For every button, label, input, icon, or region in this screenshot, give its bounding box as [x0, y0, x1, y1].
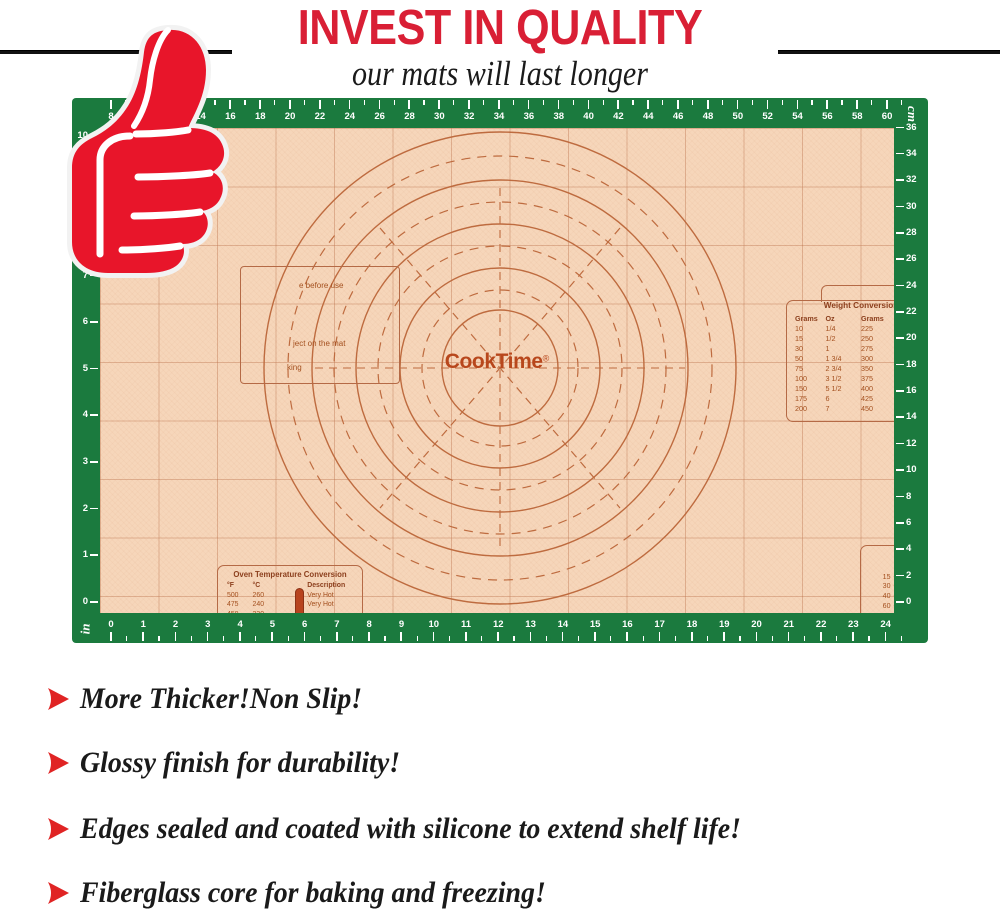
ruler-minor-tick — [449, 636, 450, 641]
panel-tab-notch — [821, 285, 894, 302]
ruler-tick — [896, 153, 904, 155]
ruler-label: 54 — [790, 111, 806, 122]
ruler-minor-tick — [675, 636, 676, 641]
ruler-tick — [647, 100, 649, 109]
ruler-label: 5 — [83, 363, 88, 374]
table-cell: 1/2 — [825, 333, 861, 343]
ruler-minor-tick — [320, 636, 321, 641]
ruler-tick — [617, 100, 619, 109]
feature-bullet: Fiberglass core for baking and freezing! — [36, 862, 581, 924]
ruler-tick — [90, 461, 98, 463]
ruler-minor-tick — [394, 100, 395, 105]
ruler-minor-tick — [782, 100, 783, 105]
table-row: 75Gram=2/3 cup — [861, 612, 894, 613]
ruler-minor-tick — [901, 100, 902, 105]
ruler-label: 0 — [906, 596, 911, 607]
ruler-tick — [659, 632, 661, 641]
ruler-tick — [408, 100, 410, 109]
ruler-tick — [588, 100, 590, 109]
ruler-tick — [896, 311, 904, 313]
ruler-label: 19 — [716, 619, 732, 630]
table-row: 1505 1/240014 — [787, 384, 894, 394]
table-cell: 5 1/2 — [825, 384, 861, 394]
ruler-label: 2 — [168, 619, 184, 630]
ruler-label: 4 — [906, 543, 911, 554]
table-cell: 260 — [253, 591, 285, 601]
ruler-tick — [896, 496, 904, 498]
ruler-label: 1 — [83, 549, 88, 560]
table-cell: 200 — [787, 404, 825, 414]
thumbs-up-icon — [60, 18, 242, 286]
table-cell: 75 — [861, 612, 894, 613]
ruler-minor-tick — [288, 636, 289, 641]
ruler-label: 50 — [730, 111, 746, 122]
ruler-label: 9 — [393, 619, 409, 630]
table-cell: 300 — [861, 353, 894, 363]
ruler-minor-tick — [739, 636, 740, 641]
ruler-tick — [90, 601, 98, 603]
arrow-bullet-icon — [36, 748, 80, 778]
table-cell: 15 — [861, 573, 894, 583]
cups-conversion-table: 15Gram=1/8 cup30Gram=1/4 cup40Gram=1/3 c… — [861, 573, 894, 614]
table-cell: 230 — [253, 610, 285, 613]
ruler-label: 11 — [458, 619, 474, 630]
ruler-label: 34 — [906, 148, 917, 159]
ruler-tick — [207, 632, 209, 641]
table-header-row: GramsOzGramsOz — [787, 313, 894, 323]
ruler-tick — [677, 100, 679, 109]
ruler-label: 6 — [83, 316, 88, 327]
cups-us-body: Flour and Icing Sugar15Gram=1/8 cup30Gra… — [861, 563, 894, 614]
column-header: Oz — [825, 313, 861, 323]
ruler-minor-tick — [334, 100, 335, 105]
ruler-label: 30 — [431, 111, 447, 122]
ruler-label: 8 — [906, 491, 911, 502]
table-cell: 50 — [787, 353, 825, 363]
ruler-tick — [110, 632, 112, 641]
ruler-minor-tick — [841, 100, 842, 105]
table-cell: 3 1/2 — [825, 374, 861, 384]
ruler-label: 28 — [906, 227, 917, 238]
ruler-label: 5 — [264, 619, 280, 630]
ruler-tick — [497, 632, 499, 641]
ruler-tick — [433, 632, 435, 641]
ruler-label: 24 — [342, 111, 358, 122]
table-cell: 15 — [787, 333, 825, 343]
ruler-label: 36 — [521, 111, 537, 122]
ruler-label: 3 — [200, 619, 216, 630]
ruler-tick — [558, 100, 560, 109]
table-header-row: °F°CDescription — [218, 581, 362, 591]
ruler-label: 18 — [684, 619, 700, 630]
ruler-label: 18 — [906, 359, 917, 370]
ruler-tick — [626, 632, 628, 641]
ruler-tick — [498, 100, 500, 109]
table-row: 501 3/430010 1/2 — [787, 353, 894, 363]
ruler-label: 48 — [700, 111, 716, 122]
ruler-tick — [788, 632, 790, 641]
feature-bullet: Edges sealed and coated with silicone to… — [36, 798, 791, 860]
ruler-tick — [797, 100, 799, 109]
table-row: 752 3/435012 — [787, 363, 894, 373]
ruler-label: 12 — [906, 438, 917, 449]
thermometer-icon — [292, 588, 307, 613]
ruler-tick — [896, 469, 904, 471]
ruler-minor-tick — [546, 636, 547, 641]
ruler-minor-tick — [453, 100, 454, 105]
ruler-minor-tick — [483, 100, 484, 105]
ruler-right-cm: 024681012141618202224262830323436 — [894, 128, 928, 613]
ruler-tick — [723, 632, 725, 641]
ruler-tick — [826, 100, 828, 109]
ruler-minor-tick — [364, 100, 365, 105]
ruler-label: 24 — [906, 280, 917, 291]
ruler-tick — [304, 632, 306, 641]
ruler-minor-tick — [352, 636, 353, 641]
ruler-tick — [737, 100, 739, 109]
ruler-minor-tick — [244, 100, 245, 105]
arrow-bullet-icon — [36, 684, 80, 714]
ruler-label: 28 — [401, 111, 417, 122]
ruler-minor-tick — [707, 636, 708, 641]
table-cell: 7 — [825, 404, 861, 414]
ruler-minor-tick — [158, 636, 159, 641]
ruler-tick — [896, 179, 904, 181]
table-row: 101/42258 — [787, 323, 894, 333]
instructions-panel: e before use ject on the mat king — [240, 266, 400, 384]
ruler-label: 20 — [282, 111, 298, 122]
ruler-label: 4 — [83, 409, 88, 420]
table-cell: 450 — [218, 610, 253, 613]
ruler-tick — [896, 575, 904, 577]
cups-section-subtitle: Flour and Icing Sugar — [861, 563, 894, 572]
ruler-label: 34 — [491, 111, 507, 122]
ruler-label: 2 — [906, 570, 911, 581]
ruler-tick — [349, 100, 351, 109]
ruler-minor-tick — [804, 636, 805, 641]
ruler-tick — [90, 414, 98, 416]
ruler-minor-tick — [384, 636, 385, 641]
ruler-tick — [142, 632, 144, 641]
table-cell: 275 — [861, 343, 894, 353]
table-cell: 350 — [861, 363, 894, 373]
arrow-bullet-icon — [36, 878, 80, 908]
ruler-minor-tick — [573, 100, 574, 105]
table-cell: 450 — [861, 404, 894, 414]
ruler-label: 10 — [426, 619, 442, 630]
feature-bullet-list: More Thicker!Non Slip!Glossy finish for … — [36, 660, 1000, 924]
ruler-label: 1 — [135, 619, 151, 630]
table-cell: 100 — [787, 374, 825, 384]
ruler-tick — [896, 364, 904, 366]
ruler-tick — [400, 632, 402, 641]
ruler-minor-tick — [632, 100, 633, 105]
ruler-tick — [465, 632, 467, 641]
cups-us-title: CUPS(US) — [861, 546, 894, 560]
ruler-minor-tick — [578, 636, 579, 641]
unit-label-bottom-in: in — [77, 624, 93, 635]
ruler-tick — [896, 416, 904, 418]
table-cell: 240 — [253, 600, 285, 610]
table-cell: 60 — [861, 602, 894, 612]
table-cell: Very Hot — [307, 600, 362, 610]
ruler-minor-tick — [662, 100, 663, 105]
ruler-label: 42 — [610, 111, 626, 122]
feature-bullet-text: More Thicker!Non Slip! — [80, 682, 362, 716]
ruler-label: 30 — [906, 201, 917, 212]
ruler-tick — [886, 100, 888, 109]
ruler-minor-tick — [223, 636, 224, 641]
ruler-tick — [90, 554, 98, 556]
weight-conversion-table: GramsOzGramsOz101/42258151/225093012759 … — [787, 313, 894, 414]
ruler-minor-tick — [752, 100, 753, 105]
table-row: 500260Very Hot — [218, 591, 362, 601]
ruler-tick — [856, 100, 858, 109]
ruler-minor-tick — [255, 636, 256, 641]
ruler-tick — [530, 632, 532, 641]
ruler-minor-tick — [692, 100, 693, 105]
ruler-tick — [271, 632, 273, 641]
ruler-minor-tick — [811, 100, 812, 105]
table-cell: 6 — [825, 394, 861, 404]
table-row: 30Gram=1/4 cup — [861, 582, 894, 592]
ruler-label: 52 — [760, 111, 776, 122]
ruler-tick — [896, 390, 904, 392]
ruler-minor-tick — [513, 636, 514, 641]
ruler-label: 20 — [749, 619, 765, 630]
ruler-tick — [885, 632, 887, 641]
ruler-label: 60 — [879, 111, 895, 122]
ruler-minor-tick — [603, 100, 604, 105]
ruler-tick — [896, 232, 904, 234]
ruler-label: 16 — [906, 385, 917, 396]
table-cell: 150 — [787, 384, 825, 394]
ruler-tick — [896, 443, 904, 445]
feature-bullet-text: Fiberglass core for baking and freezing! — [80, 876, 546, 910]
table-row: 15Gram=1/8 cup — [861, 573, 894, 583]
ruler-label: 0 — [83, 596, 88, 607]
ruler-minor-tick — [274, 100, 275, 105]
ruler-tick — [896, 548, 904, 550]
table-row: 20074501lb — [787, 404, 894, 414]
ruler-label: 6 — [297, 619, 313, 630]
oven-temperature-panel: Oven Temperature Conversion °F°CDescript… — [217, 565, 363, 613]
ruler-tick — [896, 522, 904, 524]
table-row: 450230— — [218, 610, 362, 613]
ruler-tick — [438, 100, 440, 109]
ruler-label: 18 — [252, 111, 268, 122]
arrow-bullet-icon — [36, 814, 80, 844]
table-cell: Very Hot — [307, 591, 362, 601]
ruler-minor-tick — [901, 636, 902, 641]
feature-bullet: More Thicker!Non Slip! — [36, 668, 383, 730]
ruler-label: 40 — [581, 111, 597, 122]
ruler-label: 32 — [906, 174, 917, 185]
weight-conversion-title: Weight Conversion — [787, 301, 894, 310]
brand-registered-mark: ® — [543, 354, 550, 364]
ruler-label: 38 — [551, 111, 567, 122]
table-cell: 375 — [861, 374, 894, 384]
ruler-label: 16 — [619, 619, 635, 630]
ruler-label: 14 — [906, 411, 917, 422]
ruler-label: 12 — [490, 619, 506, 630]
table-cell: 30 — [787, 343, 825, 353]
table-cell: 175 — [787, 394, 825, 404]
table-cell: 225 — [861, 323, 894, 333]
ruler-minor-tick — [868, 636, 869, 641]
column-header: °F — [218, 581, 253, 591]
ruler-tick — [175, 632, 177, 641]
brand-logo: CookTime® — [100, 350, 894, 374]
ruler-minor-tick — [191, 636, 192, 641]
ruler-tick — [820, 632, 822, 641]
ruler-bottom-inch: 0123456789101112131415161718192021222324 — [100, 613, 894, 643]
ruler-tick — [90, 508, 98, 510]
ruler-minor-tick — [871, 100, 872, 105]
ruler-tick — [468, 100, 470, 109]
ruler-tick — [707, 100, 709, 109]
ruler-label: 13 — [523, 619, 539, 630]
ruler-label: 20 — [906, 332, 917, 343]
ruler-label: 6 — [906, 517, 911, 528]
ruler-tick — [896, 127, 904, 129]
table-cell: 475 — [218, 600, 253, 610]
ruler-label: 15 — [587, 619, 603, 630]
ruler-minor-tick — [304, 100, 305, 105]
ruler-tick — [896, 258, 904, 260]
table-row: 40Gram=1/3 cup — [861, 592, 894, 602]
ruler-label: 3 — [83, 456, 88, 467]
ruler-minor-tick — [643, 636, 644, 641]
ruler-tick — [756, 632, 758, 641]
oven-temperature-table: °F°CDescription500260Very Hot475240Very … — [218, 581, 362, 613]
ruler-label: 21 — [781, 619, 797, 630]
ruler-label: 32 — [461, 111, 477, 122]
thermometer-stem — [295, 588, 304, 613]
ruler-minor-tick — [423, 100, 424, 105]
table-row: 151/22509 — [787, 333, 894, 343]
ruler-label: 58 — [849, 111, 865, 122]
table-row: 60Gram=1/2 cup — [861, 602, 894, 612]
table-row: 3012759 3/4 — [787, 343, 894, 353]
ruler-minor-tick — [836, 636, 837, 641]
ruler-tick — [90, 321, 98, 323]
table-cell: 1 3/4 — [825, 353, 861, 363]
ruler-label: 17 — [652, 619, 668, 630]
ruler-label: 0 — [103, 619, 119, 630]
ruler-label: 22 — [906, 306, 917, 317]
feature-bullet-text: Glossy finish for durability! — [80, 746, 400, 780]
ruler-tick — [90, 368, 98, 370]
ruler-tick — [896, 601, 904, 603]
ruler-tick — [562, 632, 564, 641]
column-header: Grams — [861, 313, 894, 323]
cups-us-panel: CUPS(US) Flour and Icing Sugar15Gram=1/8… — [860, 545, 894, 613]
ruler-label: 36 — [906, 122, 917, 133]
ruler-tick — [852, 632, 854, 641]
ruler-tick — [594, 632, 596, 641]
table-cell: — — [307, 610, 362, 613]
table-cell: 1/4 — [825, 323, 861, 333]
ruler-minor-tick — [610, 636, 611, 641]
ruler-label: 44 — [640, 111, 656, 122]
table-cell: 30 — [861, 582, 894, 592]
ruler-minor-tick — [513, 100, 514, 105]
ruler-label: 26 — [372, 111, 388, 122]
brand-name: CookTime — [445, 350, 543, 373]
table-cell: 500 — [218, 591, 253, 601]
table-cell: 250 — [861, 333, 894, 343]
ruler-minor-tick — [722, 100, 723, 105]
ruler-minor-tick — [417, 636, 418, 641]
ruler-label: 7 — [329, 619, 345, 630]
oven-temperature-title: Oven Temperature Conversion — [218, 566, 362, 579]
ruler-label: 24 — [878, 619, 894, 630]
ruler-label: 46 — [670, 111, 686, 122]
column-header: °C — [253, 581, 285, 591]
ruler-label: 2 — [83, 503, 88, 514]
table-cell: 425 — [861, 394, 894, 404]
table-cell: 1 — [825, 343, 861, 353]
ruler-label: 10 — [906, 464, 917, 475]
instruction-line-1: e before use — [299, 281, 343, 290]
ruler-label: 22 — [312, 111, 328, 122]
column-header: Description — [307, 581, 362, 591]
instruction-line-2: ject on the mat — [293, 339, 345, 348]
ruler-label: 4 — [232, 619, 248, 630]
table-cell: 10 — [787, 323, 825, 333]
table-cell: 40 — [861, 592, 894, 602]
ruler-minor-tick — [481, 636, 482, 641]
ruler-tick — [379, 100, 381, 109]
ruler-label: 8 — [361, 619, 377, 630]
ruler-tick — [896, 285, 904, 287]
ruler-tick — [691, 632, 693, 641]
ruler-tick — [896, 337, 904, 339]
column-header: Grams — [787, 313, 825, 323]
ruler-label: 22 — [813, 619, 829, 630]
ruler-label: 14 — [555, 619, 571, 630]
table-cell: 2 3/4 — [825, 363, 861, 373]
ruler-tick — [336, 632, 338, 641]
ruler-tick — [319, 100, 321, 109]
ruler-tick — [528, 100, 530, 109]
ruler-tick — [896, 206, 904, 208]
ruler-tick — [368, 632, 370, 641]
ruler-label: 56 — [819, 111, 835, 122]
ruler-minor-tick — [543, 100, 544, 105]
feature-bullet: Glossy finish for durability! — [36, 732, 424, 794]
feature-bullet-text: Edges sealed and coated with silicone to… — [80, 812, 741, 846]
table-row: 175642515 — [787, 394, 894, 404]
table-cell: 400 — [861, 384, 894, 394]
table-cell: 75 — [787, 363, 825, 373]
table-row: 1003 1/237513 — [787, 374, 894, 384]
product-infographic: INVEST IN QUALITY our mats will last lon… — [0, 0, 1000, 924]
table-row: 475240Very Hot — [218, 600, 362, 610]
weight-conversion-panel: Weight Conversion GramsOzGramsOz101/4225… — [786, 300, 894, 422]
ruler-minor-tick — [772, 636, 773, 641]
unit-label-top-cm: cm — [904, 106, 920, 122]
ruler-tick — [239, 632, 241, 641]
ruler-label: 26 — [906, 253, 917, 264]
ruler-label: 23 — [845, 619, 861, 630]
instruction-line-3: king — [287, 363, 302, 372]
ruler-tick — [259, 100, 261, 109]
ruler-minor-tick — [126, 636, 127, 641]
ruler-tick — [767, 100, 769, 109]
ruler-tick — [289, 100, 291, 109]
